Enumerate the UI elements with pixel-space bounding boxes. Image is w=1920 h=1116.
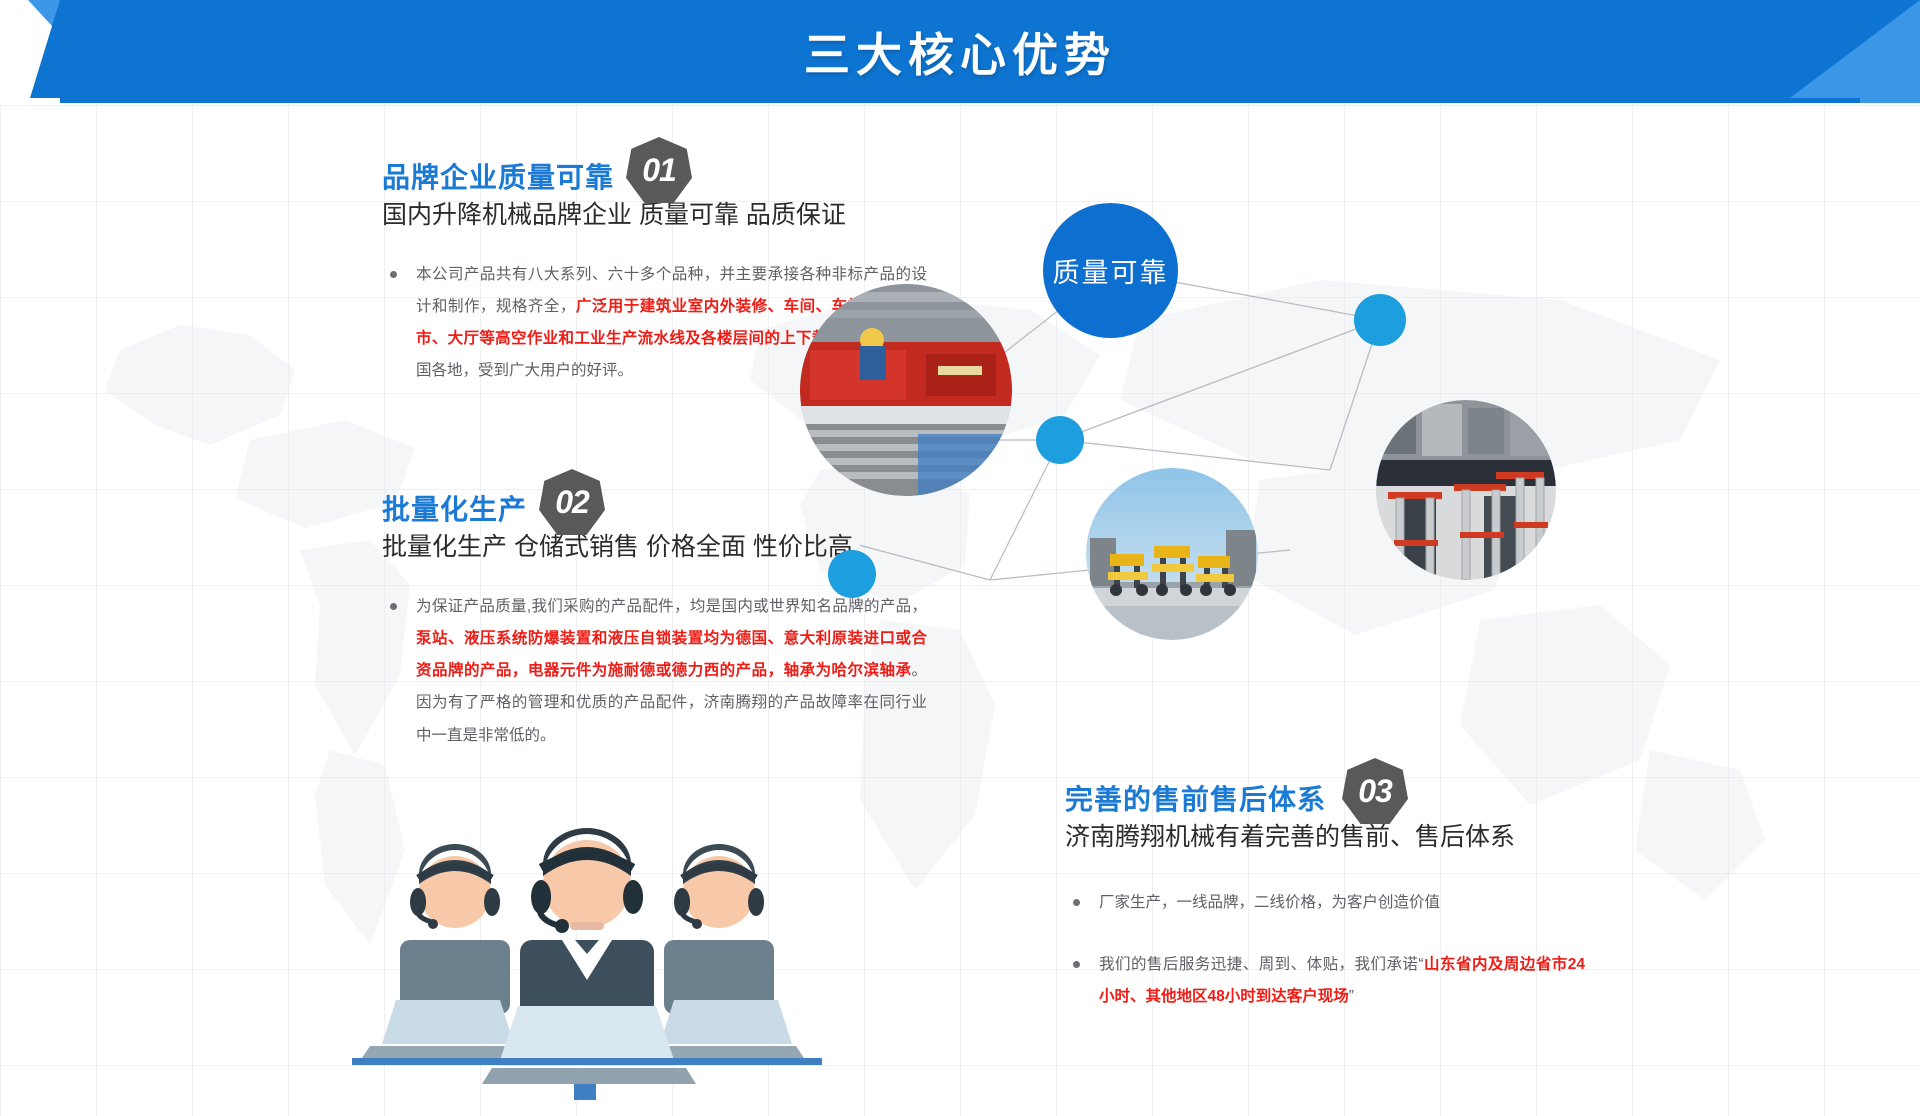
list-item: 我们的售后服务迅捷、周到、体贴，我们承诺“山东省内及周边省市24小时、其他地区4… — [1065, 949, 1585, 1013]
list-item: 为保证产品质量,我们采购的产品配件，均是国内或世界知名品牌的产品，泵站、液压系统… — [382, 591, 927, 752]
feature-02-bullets: 为保证产品质量,我们采购的产品配件，均是国内或世界知名品牌的产品，泵站、液压系统… — [382, 591, 927, 752]
feature-02-title: 批量化生产 — [382, 492, 527, 527]
page-title: 三大核心优势 — [0, 0, 1920, 103]
feature-03-number-badge: 03 — [1342, 758, 1408, 824]
body-text: ” — [1349, 988, 1354, 1005]
page-root: 三大核心优势 品牌企业质量可靠 01 国内升降机械品牌企业 质量可靠 品质保证 … — [0, 0, 1920, 1116]
photo-storefront-lifts[interactable] — [1376, 400, 1556, 580]
feature-block-03: 完善的售前售后体系 03 济南腾翔机械有着完善的售前、售后体系 厂家生产，一线品… — [1065, 782, 1585, 1035]
feature-02-heading: 批量化生产 02 — [382, 492, 605, 527]
feature-01-number-badge: 01 — [626, 137, 692, 203]
agent-right — [664, 844, 774, 1014]
body-text: 我们的售后服务迅捷、周到、体贴，我们承诺“ — [1099, 956, 1424, 973]
feature-01-heading: 品牌企业质量可靠 01 — [382, 160, 692, 195]
body-text: 为保证产品质量,我们采购的产品配件，均是国内或世界知名品牌的产品， — [416, 598, 927, 615]
node-dot-center[interactable] — [1036, 416, 1084, 464]
header-banner: 三大核心优势 — [0, 0, 1920, 103]
photo-factory-workshop[interactable] — [800, 284, 1012, 496]
feature-03-bullets: 厂家生产，一线品牌，二线价格，为客户创造价值 我们的售后服务迅捷、周到、体贴，我… — [1065, 887, 1585, 1014]
customer-support-team-illustration — [352, 800, 822, 1100]
node-dot-right[interactable] — [1354, 294, 1406, 346]
list-item: 厂家生产，一线品牌，二线价格，为客户创造价值 — [1065, 887, 1585, 919]
agent-left — [400, 844, 510, 1014]
body-text: 厂家生产，一线品牌，二线价格，为客户创造价值 — [1099, 894, 1440, 911]
laptop-center — [482, 1006, 696, 1100]
feature-03-subtitle: 济南腾翔机械有着完善的售前、售后体系 — [1065, 821, 1585, 855]
main-node-quality[interactable]: 质量可靠 — [1043, 203, 1178, 338]
feature-02-number-badge: 02 — [539, 469, 605, 535]
main-node-label: 质量可靠 — [1053, 251, 1169, 290]
photo-outdoor-lifts[interactable] — [1086, 468, 1258, 640]
desk-line — [352, 1058, 822, 1065]
feature-03-heading: 完善的售前售后体系 03 — [1065, 782, 1404, 817]
node-dot-left[interactable] — [828, 550, 876, 598]
laptop-left — [362, 1000, 526, 1058]
highlighted-text: 泵站、液压系统防爆装置和液压自锁装置均为德国、意大利原装进口或合资品牌的产品，电… — [416, 630, 927, 679]
feature-03-title: 完善的售前售后体系 — [1065, 782, 1326, 817]
agent-center — [520, 828, 654, 1036]
feature-01-title: 品牌企业质量可靠 — [382, 160, 614, 195]
feature-01-subtitle: 国内升降机械品牌企业 质量可靠 品质保证 — [382, 199, 927, 233]
network-diagram: 质量可靠 — [860, 150, 1560, 610]
feature-block-02: 批量化生产 02 批量化生产 仓储式销售 价格全面 性价比高 为保证产品质量,我… — [382, 492, 927, 774]
